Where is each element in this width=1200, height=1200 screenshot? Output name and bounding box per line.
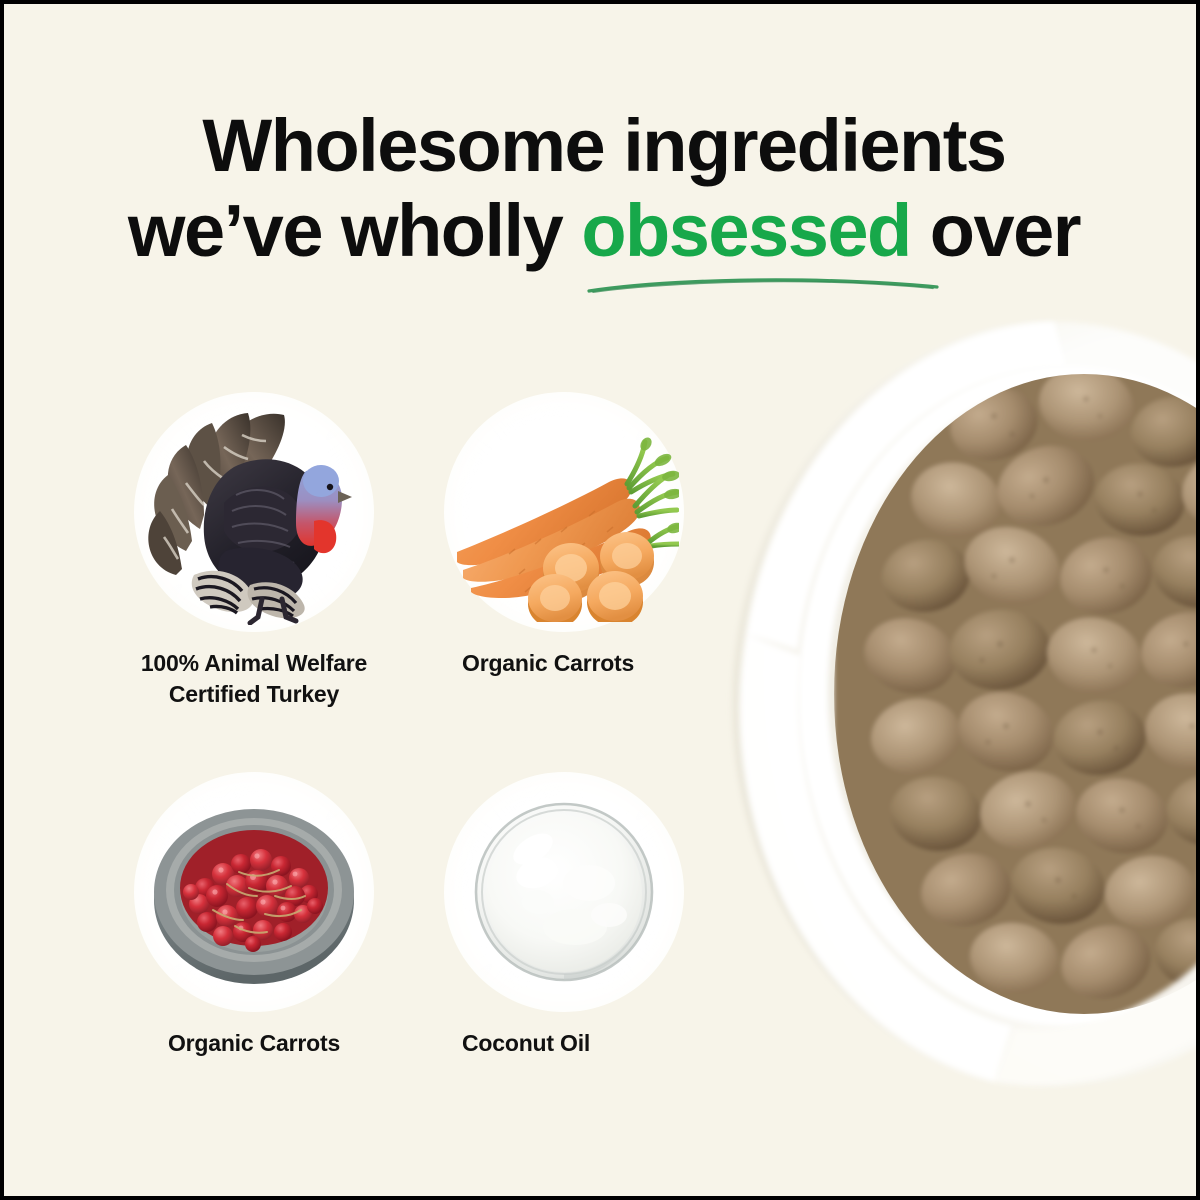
- headline-accent-word: obsessed: [581, 189, 910, 272]
- ingredient-item-carrots-top[interactable]: Organic Carrots: [444, 392, 744, 679]
- ingredient-label-line1: 100% Animal Welfare: [141, 650, 367, 676]
- ingredient-item-turkey[interactable]: 100% Animal Welfare Certified Turkey: [134, 392, 374, 709]
- coconut-oil-jar-icon: [471, 799, 657, 985]
- ingredient-label-coconut-oil: Coconut Oil: [444, 1028, 744, 1059]
- ingredient-item-coconut-oil[interactable]: Coconut Oil: [444, 772, 744, 1059]
- headline-text-before: we’ve wholly: [128, 189, 581, 272]
- ingredient-label-turkey: 100% Animal Welfare Certified Turkey: [134, 648, 374, 709]
- carrots-thumbnail: [444, 392, 684, 632]
- ingredient-label-carrots-top: Organic Carrots: [444, 648, 744, 679]
- ingredient-item-carrots-bottom[interactable]: Organic Carrots: [134, 772, 374, 1059]
- headline-line-1: Wholesome ingredients: [4, 110, 1200, 183]
- page-title: Wholesome ingredients we’ve wholly obses…: [4, 110, 1200, 267]
- carrots-icon: [449, 402, 679, 622]
- headline-text-after: over: [911, 189, 1080, 272]
- promo-graphic: Wholesome ingredients we’ve wholly obses…: [0, 0, 1200, 1200]
- turkey-icon: [138, 399, 370, 625]
- turkey-thumbnail: [134, 392, 374, 632]
- ingredient-label-carrots-bottom: Organic Carrots: [134, 1028, 374, 1059]
- coconut-oil-thumbnail: [444, 772, 684, 1012]
- headline-line-2: we’ve wholly obsessed over: [4, 195, 1200, 268]
- berries-bowl-thumbnail: [134, 772, 374, 1012]
- ingredient-label-line2: Certified Turkey: [169, 681, 339, 707]
- red-currants-bowl-icon: [149, 792, 359, 992]
